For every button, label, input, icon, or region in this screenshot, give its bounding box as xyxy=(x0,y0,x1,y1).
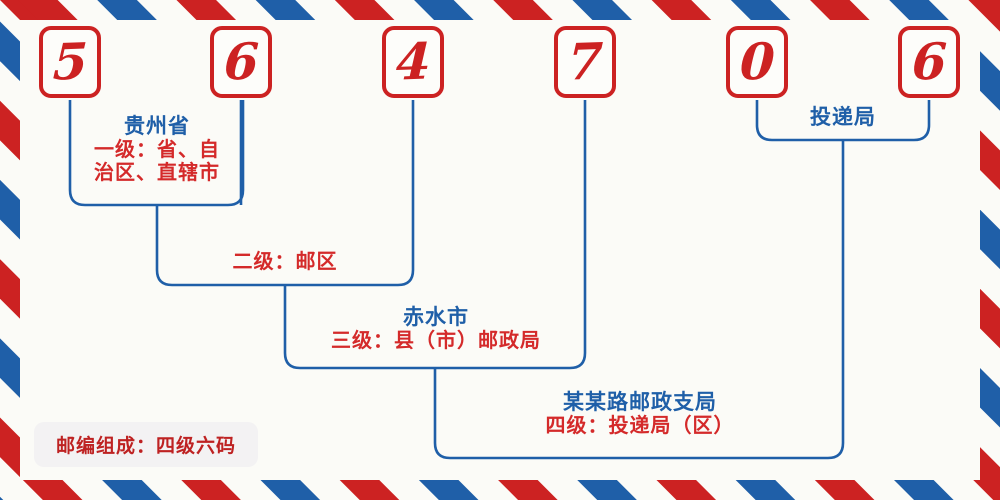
postcode-diagram: 5 6 4 7 0 6 贵州省 一级：省、自 治区、直辖市 二级：邮区 赤水市 … xyxy=(0,0,1000,500)
label-level-4-subtitle: 四级：投递局（区） xyxy=(440,415,840,439)
digit-value-3: 4 xyxy=(395,36,432,87)
label-level-2-subtitle: 二级：邮区 xyxy=(160,251,410,275)
digit-value-4: 7 xyxy=(567,36,604,87)
label-level-3-subtitle: 三级：县（市）邮政局 xyxy=(290,330,582,354)
digit-box-3[interactable]: 4 xyxy=(382,26,444,98)
label-delivery-office: 投递局 xyxy=(760,105,926,130)
label-level-1-subtitle-line-2: 治区、直辖市 xyxy=(74,162,240,186)
digit-value-6: 6 xyxy=(911,36,948,87)
digit-value-2: 6 xyxy=(223,36,260,87)
label-level-3-title: 赤水市 xyxy=(290,305,582,330)
digit-value-5: 0 xyxy=(739,36,776,87)
digit-box-6[interactable]: 6 xyxy=(898,26,960,98)
label-level-1-subtitle-line-1: 一级：省、自 xyxy=(74,139,240,163)
label-delivery-office-title: 投递局 xyxy=(760,105,926,130)
label-level-1-title: 贵州省 xyxy=(74,114,240,139)
digit-box-2[interactable]: 6 xyxy=(210,26,272,98)
digit-box-1[interactable]: 5 xyxy=(39,26,101,98)
label-level-4: 某某路邮政支局 四级：投递局（区） xyxy=(440,390,840,438)
label-level-3: 赤水市 三级：县（市）邮政局 xyxy=(290,305,582,353)
label-level-1: 贵州省 一级：省、自 治区、直辖市 xyxy=(74,114,240,186)
postcode-composition-badge: 邮编组成：四级六码 xyxy=(34,422,258,467)
label-level-2: 二级：邮区 xyxy=(160,251,410,275)
digit-box-4[interactable]: 7 xyxy=(554,26,616,98)
digit-box-5[interactable]: 0 xyxy=(726,26,788,98)
digit-value-1: 5 xyxy=(52,36,89,87)
label-level-4-title: 某某路邮政支局 xyxy=(440,390,840,415)
